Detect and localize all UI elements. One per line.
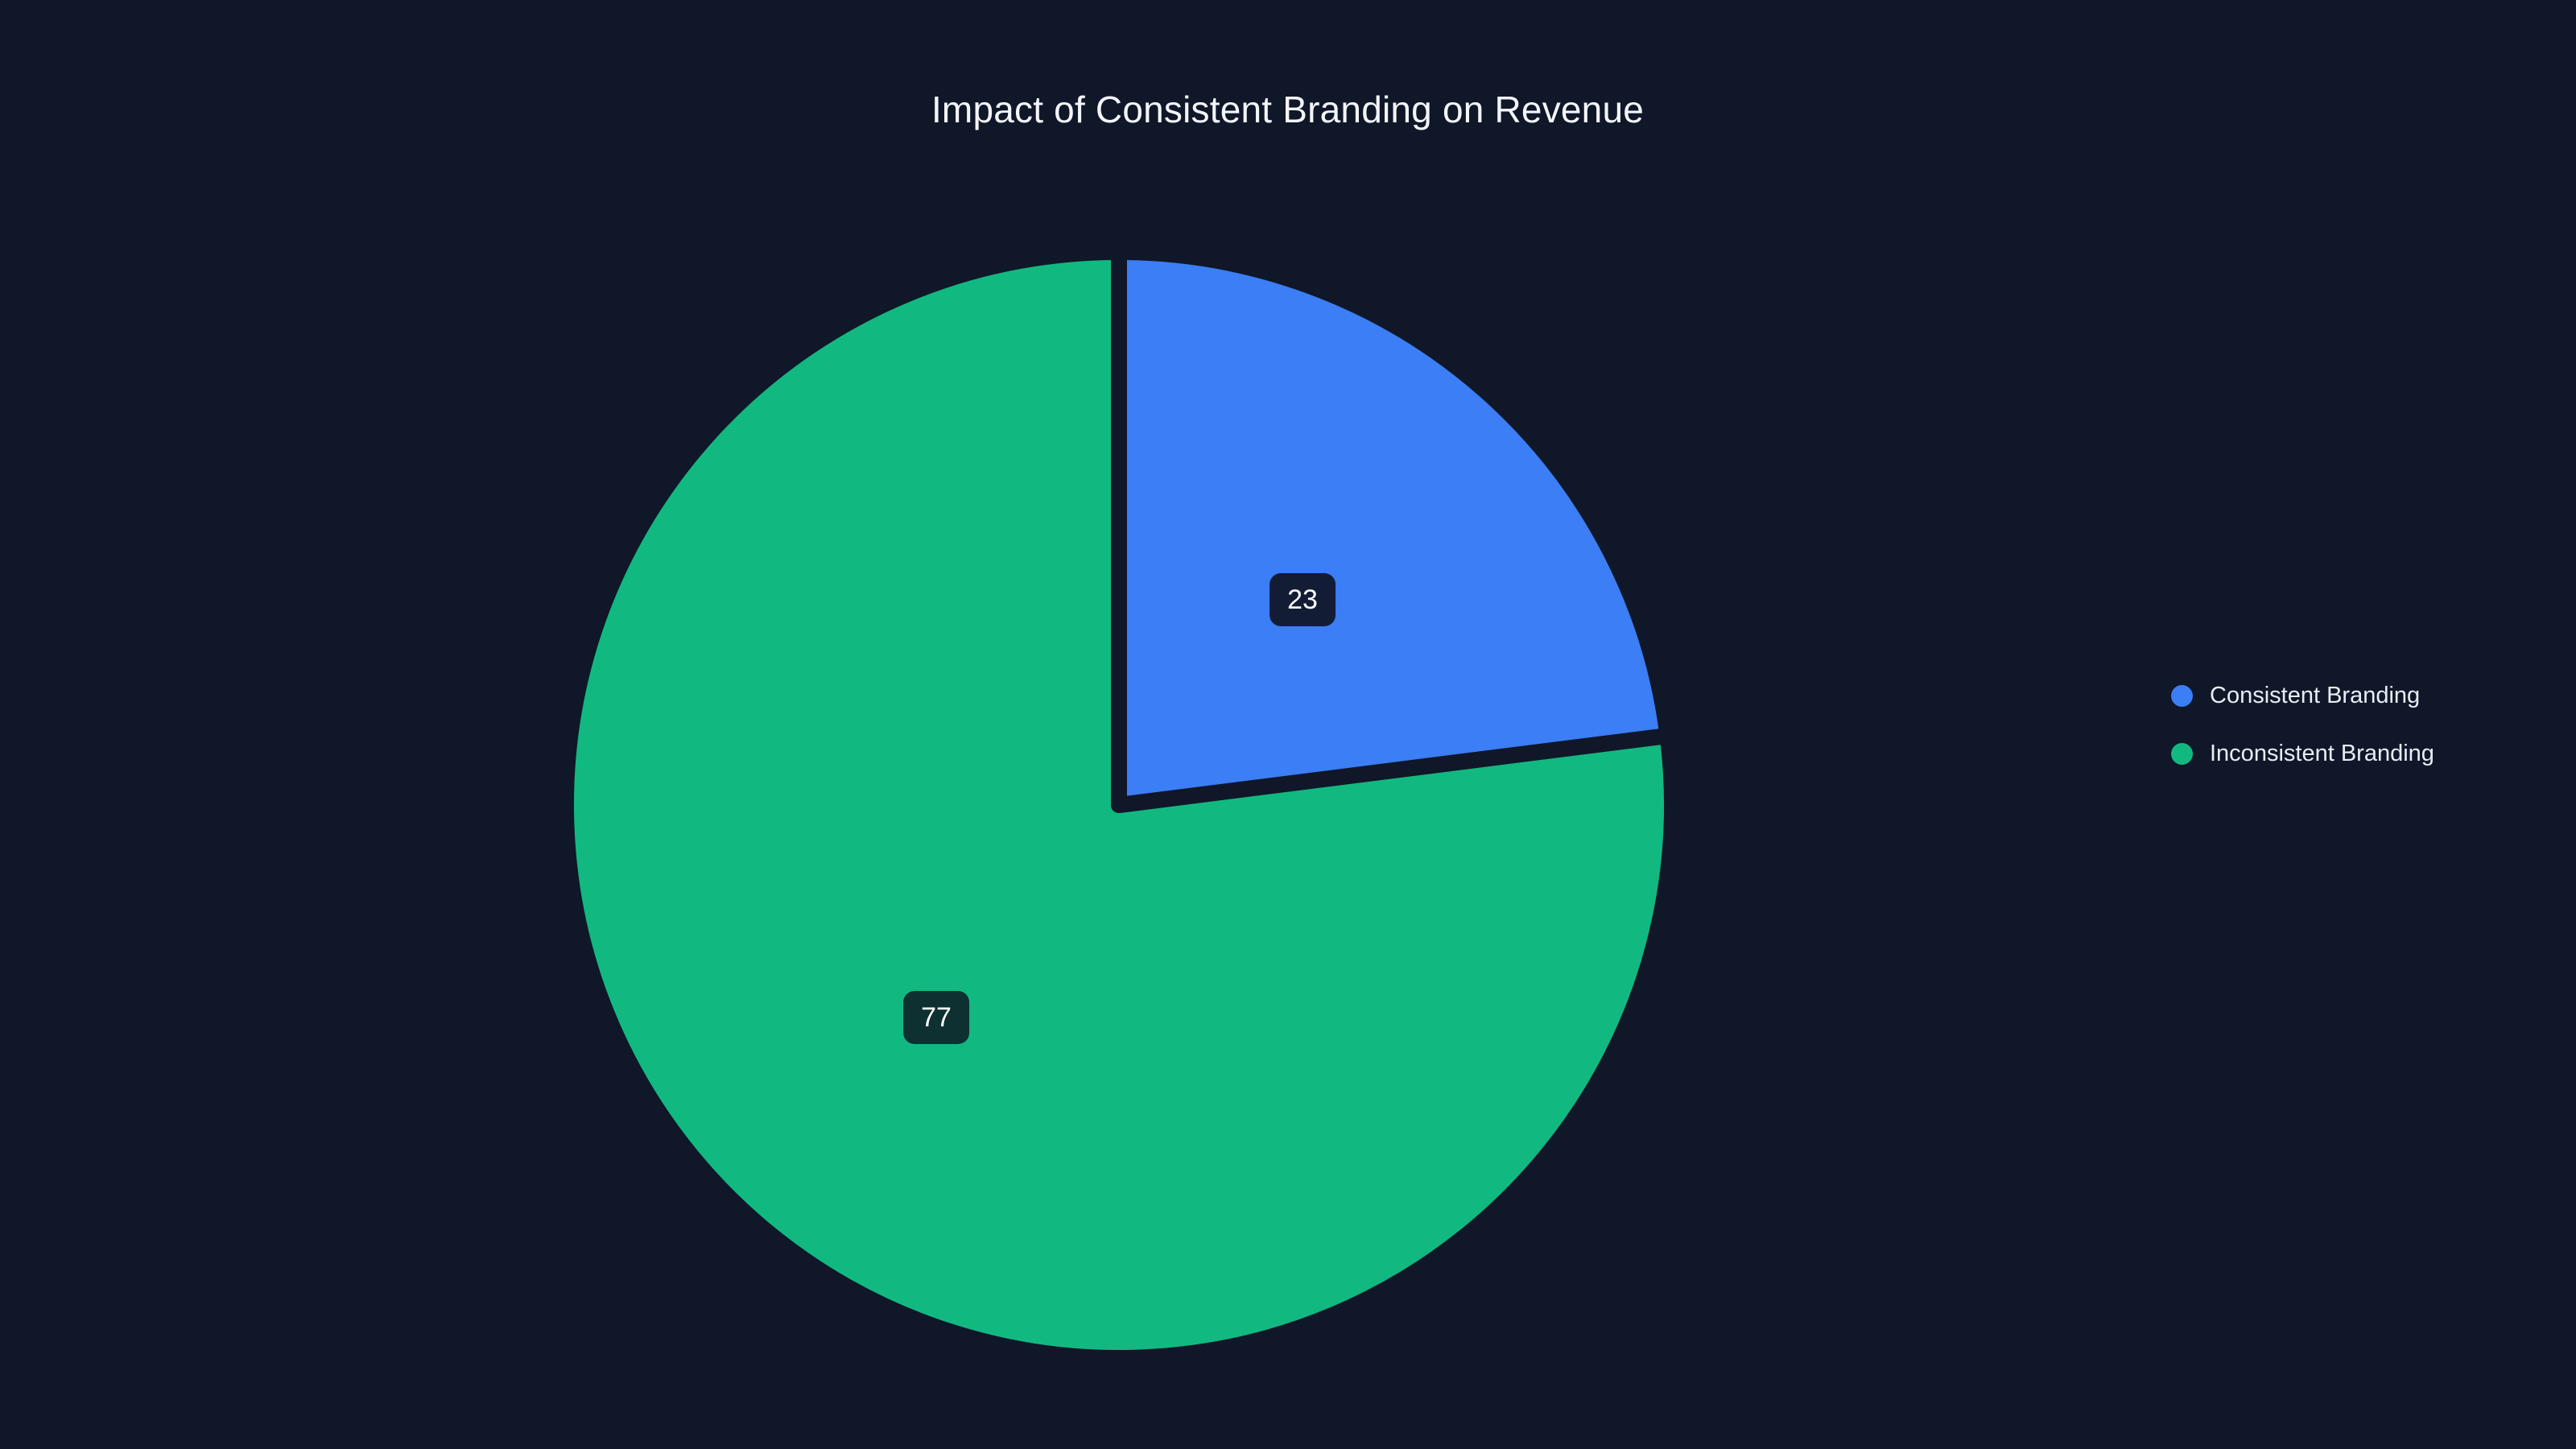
chart-legend: Consistent Branding Inconsistent Brandin…	[2171, 667, 2434, 782]
slice-value-label-inconsistent-branding: 77	[903, 991, 969, 1044]
pie-slice-consistent-branding[interactable]	[1119, 252, 1668, 805]
slice-value-label-consistent-branding: 23	[1269, 573, 1335, 626]
pie-svg	[0, 0, 2125, 1449]
legend-item-label: Consistent Branding	[2210, 682, 2420, 709]
legend-item-label: Inconsistent Branding	[2210, 740, 2434, 767]
legend-swatch-icon	[2171, 685, 2193, 707]
legend-item-consistent-branding[interactable]: Consistent Branding	[2171, 667, 2434, 724]
legend-swatch-icon	[2171, 743, 2193, 765]
legend-item-inconsistent-branding[interactable]: Inconsistent Branding	[2171, 724, 2434, 782]
pie-chart-canvas: Impact of Consistent Branding on Revenue…	[0, 0, 2576, 1449]
plot-area: 23 77	[0, 0, 2125, 1449]
